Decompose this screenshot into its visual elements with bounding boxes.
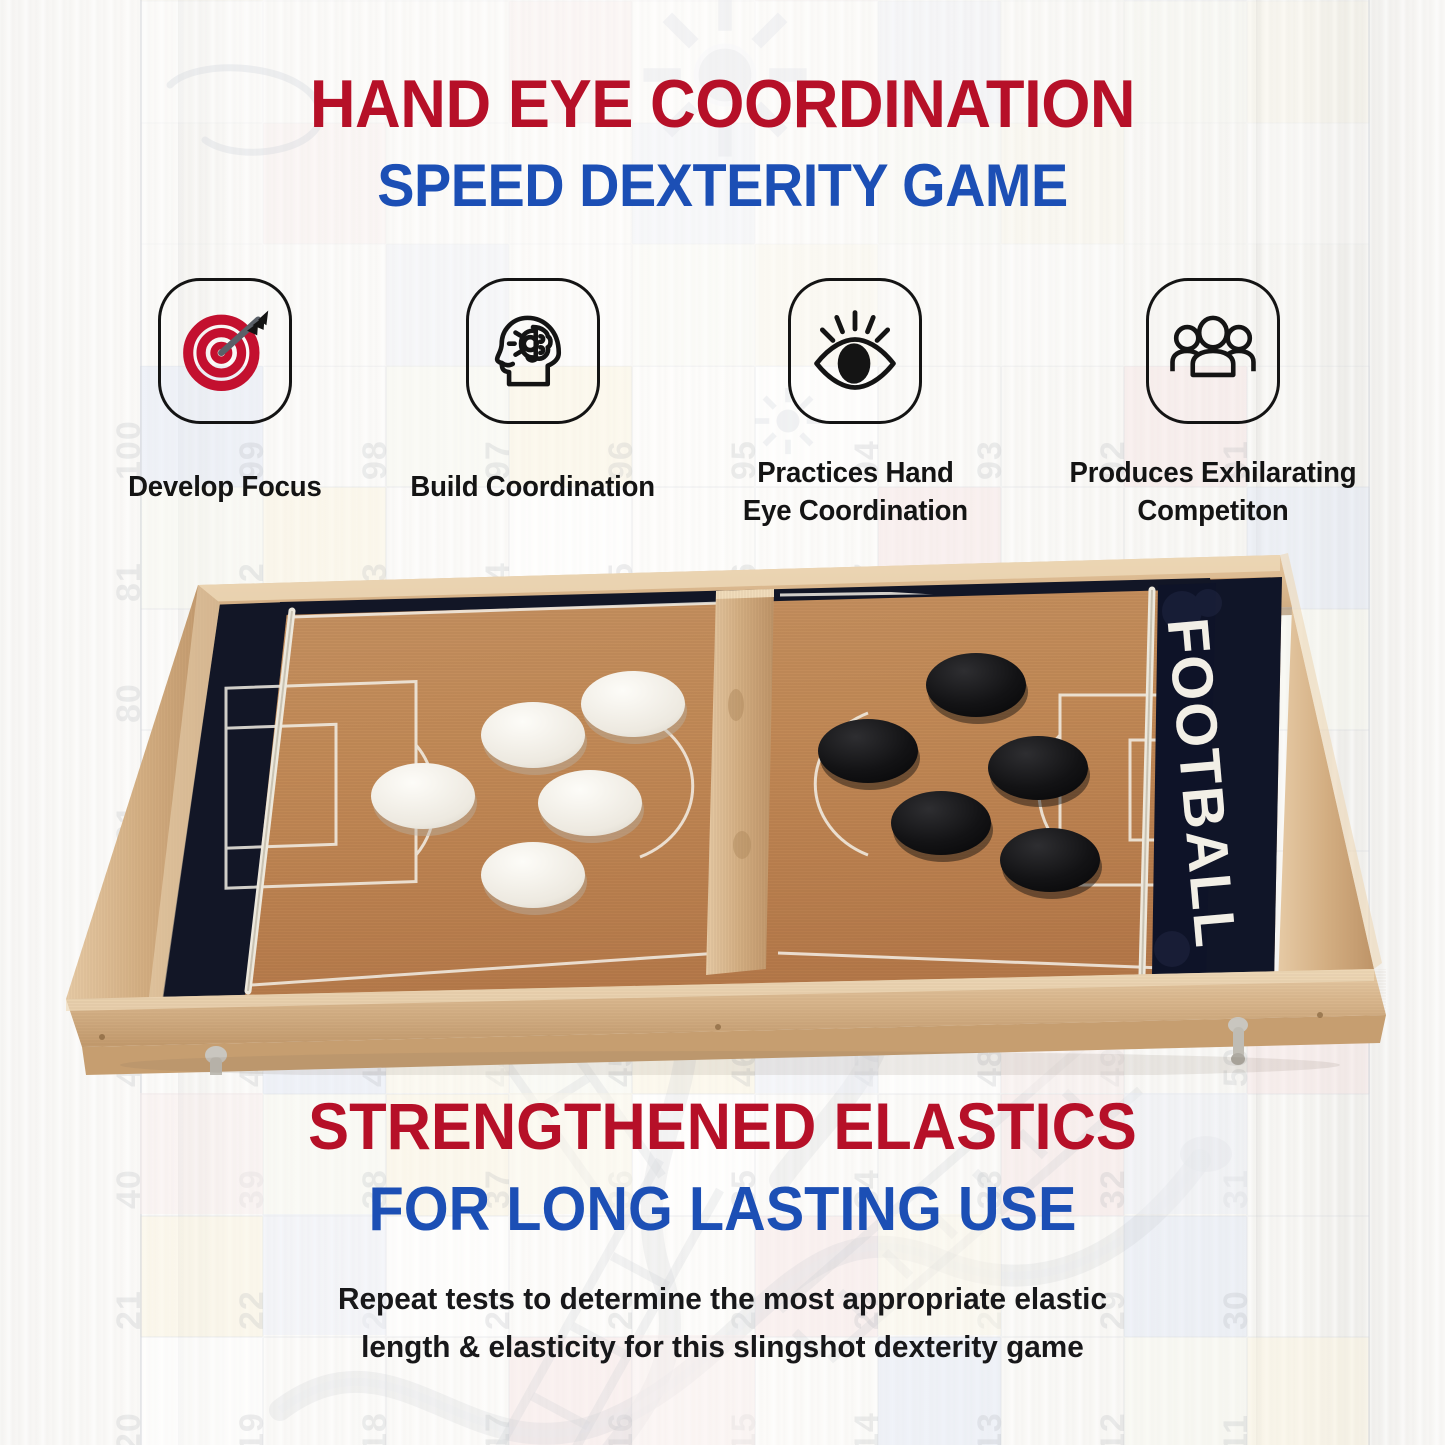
wood-knot xyxy=(728,689,744,721)
bottom-text-block: STRENGTHENED ELASTICS FOR LONG LASTING U… xyxy=(0,1093,1445,1371)
bottom-subtext-line-2: length & elasticity for this slingshot d… xyxy=(361,1329,1084,1364)
feature-label-line-2: Eye Coordination xyxy=(742,495,967,527)
center-divider-grain xyxy=(706,589,774,975)
nail-hole xyxy=(1317,1012,1323,1018)
feature-practices-hand-eye: Practices Hand Eye Coordination xyxy=(690,278,1020,531)
feature-label: Produces Exhilarating Competiton xyxy=(1069,454,1356,531)
feature-develop-focus: Develop Focus xyxy=(75,278,375,506)
headline-line-2: SPEED DEXTERITY GAME xyxy=(51,156,1395,216)
feature-label: Build Coordination xyxy=(410,468,654,506)
feature-icon-tile xyxy=(466,278,600,424)
bottom-subtext-line-1: Repeat tests to determine the most appro… xyxy=(338,1281,1107,1316)
feature-label-line-1: Produces Exhilarating xyxy=(1069,457,1356,489)
feature-produces-competition: Produces Exhilarating Competiton xyxy=(1020,278,1405,531)
headline-line-1: HAND EYE COORDINATION xyxy=(51,70,1395,138)
feature-label: Develop Focus xyxy=(128,468,321,506)
people-group-icon xyxy=(1167,305,1259,397)
feature-icon-tile xyxy=(158,278,292,424)
product-photo: FOOTBALL xyxy=(30,545,1415,1075)
bottom-headline-line-1: STRENGTHENED ELASTICS xyxy=(51,1093,1395,1159)
feature-icon-tile xyxy=(788,278,922,424)
eye-icon xyxy=(807,303,903,399)
bottom-subtext: Repeat tests to determine the most appro… xyxy=(29,1275,1416,1371)
bottom-headline-line-2: FOR LONG LASTING USE xyxy=(51,1179,1395,1241)
sling-puck-board-illustration: FOOTBALL xyxy=(30,545,1415,1075)
content-layer: HAND EYE COORDINATION SPEED DEXTERITY GA… xyxy=(0,0,1445,1445)
nail-hole xyxy=(99,1034,105,1040)
feature-label-line-1: Practices Hand xyxy=(757,457,953,489)
feature-row: Develop Focus xyxy=(75,278,1405,531)
board-right-rail xyxy=(1278,555,1374,985)
feature-build-coordination: Build Coordination xyxy=(375,278,690,506)
nail-hole xyxy=(715,1024,721,1030)
target-dartboard-icon xyxy=(179,305,271,397)
head-brain-gear-icon xyxy=(487,305,579,397)
feature-icon-tile xyxy=(1146,278,1280,424)
wood-knot xyxy=(733,831,751,859)
feature-label-line-2: Competiton xyxy=(1137,495,1288,527)
headline-block: HAND EYE COORDINATION SPEED DEXTERITY GA… xyxy=(0,70,1445,216)
feature-label: Practices Hand Eye Coordination xyxy=(742,454,967,531)
